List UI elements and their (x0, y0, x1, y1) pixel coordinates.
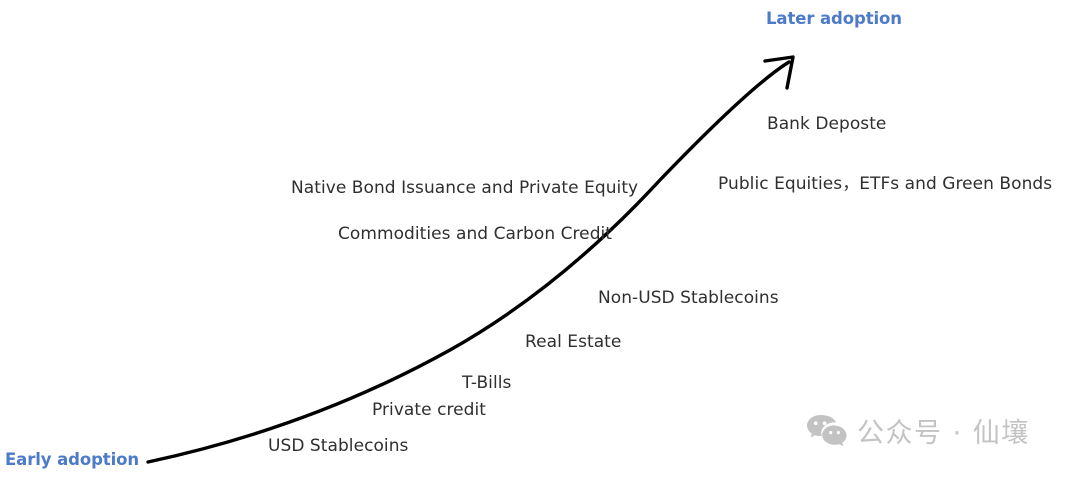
stage-label-real-estate: Real Estate (525, 332, 621, 352)
stage-label-bank-deposte: Bank Deposte (767, 114, 886, 134)
stage-label-commodities-and-carbon-credit: Commodities and Carbon Credit (338, 224, 612, 244)
early-adoption-label: Early adoption (5, 450, 139, 469)
stage-label-private-credit: Private credit (372, 400, 486, 420)
diagram-canvas: Early adoption Later adoption USD Stable… (0, 0, 1070, 478)
watermark-text: 公众号 · 仙壤 (857, 411, 1030, 450)
stage-label-non-usd-stablecoins: Non-USD Stablecoins (598, 288, 779, 308)
stage-label-usd-stablecoins: USD Stablecoins (268, 436, 408, 456)
wechat-icon (806, 413, 848, 449)
watermark: 公众号 · 仙壤 (806, 411, 1030, 450)
stage-label-t-bills: T-Bills (462, 373, 511, 393)
stage-label-native-bond-issuance-and-private-equity: Native Bond Issuance and Private Equity (291, 178, 638, 198)
later-adoption-label: Later adoption (766, 9, 902, 28)
stage-label-public-equities-etfs-and-green-bonds: Public Equities，ETFs and Green Bonds (718, 169, 1052, 194)
